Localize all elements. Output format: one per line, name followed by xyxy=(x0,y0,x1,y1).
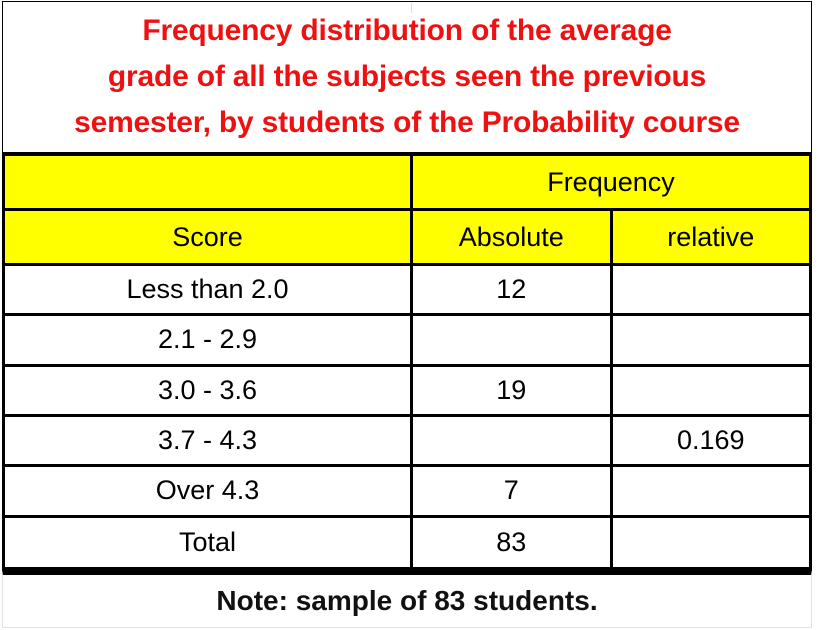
cell-score: 3.0 - 3.6 xyxy=(4,365,412,415)
header-col-score: Score xyxy=(4,210,412,264)
cell-total-absolute: 83 xyxy=(412,516,612,568)
table-figure: Frequency distribution of the average gr… xyxy=(0,0,822,630)
cell-relative xyxy=(611,466,811,516)
table-row: 3.0 - 3.6 19 xyxy=(4,365,811,415)
table-row: Less than 2.0 12 xyxy=(4,264,811,314)
cell-score: Over 4.3 xyxy=(4,466,412,516)
header-score-blank xyxy=(4,155,412,210)
cell-absolute: 7 xyxy=(412,466,612,516)
table-row: Over 4.3 7 xyxy=(4,466,811,516)
cell-relative xyxy=(611,365,811,415)
cell-relative xyxy=(611,315,811,365)
cell-relative: 0.169 xyxy=(611,415,811,465)
cell-absolute: 12 xyxy=(412,264,612,314)
cell-score: 3.7 - 4.3 xyxy=(4,415,412,465)
title-line-2: grade of all the subjects seen the previ… xyxy=(108,54,706,100)
cell-total-label: Total xyxy=(4,516,412,568)
figure-title: Frequency distribution of the average gr… xyxy=(2,1,812,153)
cell-score: 2.1 - 2.9 xyxy=(4,315,412,365)
cell-absolute xyxy=(412,315,612,365)
table-header-group-row: Frequency xyxy=(4,155,811,210)
cell-score: Less than 2.0 xyxy=(4,264,412,314)
title-line-1: Frequency distribution of the average xyxy=(142,8,671,54)
table-total-row: Total 83 xyxy=(4,516,811,568)
table-note-row: Note: sample of 83 students. xyxy=(2,570,812,628)
header-col-relative: relative xyxy=(611,210,811,264)
cell-absolute: 19 xyxy=(412,365,612,415)
cell-total-relative xyxy=(611,516,811,568)
cell-absolute xyxy=(412,415,612,465)
header-frequency-group: Frequency xyxy=(412,155,811,210)
title-line-3: semester, by students of the Probability… xyxy=(74,100,740,146)
table-note-text: Note: sample of 83 students. xyxy=(216,585,597,617)
table-row: 2.1 - 2.9 xyxy=(4,315,811,365)
frequency-table-container: Frequency Score Absolute relative Less t… xyxy=(2,153,812,570)
header-col-absolute: Absolute xyxy=(412,210,612,264)
table-header-row: Score Absolute relative xyxy=(4,210,811,264)
table-row: 3.7 - 4.3 0.169 xyxy=(4,415,811,465)
cell-relative xyxy=(611,264,811,314)
title-cell-divider xyxy=(411,3,412,13)
frequency-table: Frequency Score Absolute relative Less t… xyxy=(2,153,812,570)
